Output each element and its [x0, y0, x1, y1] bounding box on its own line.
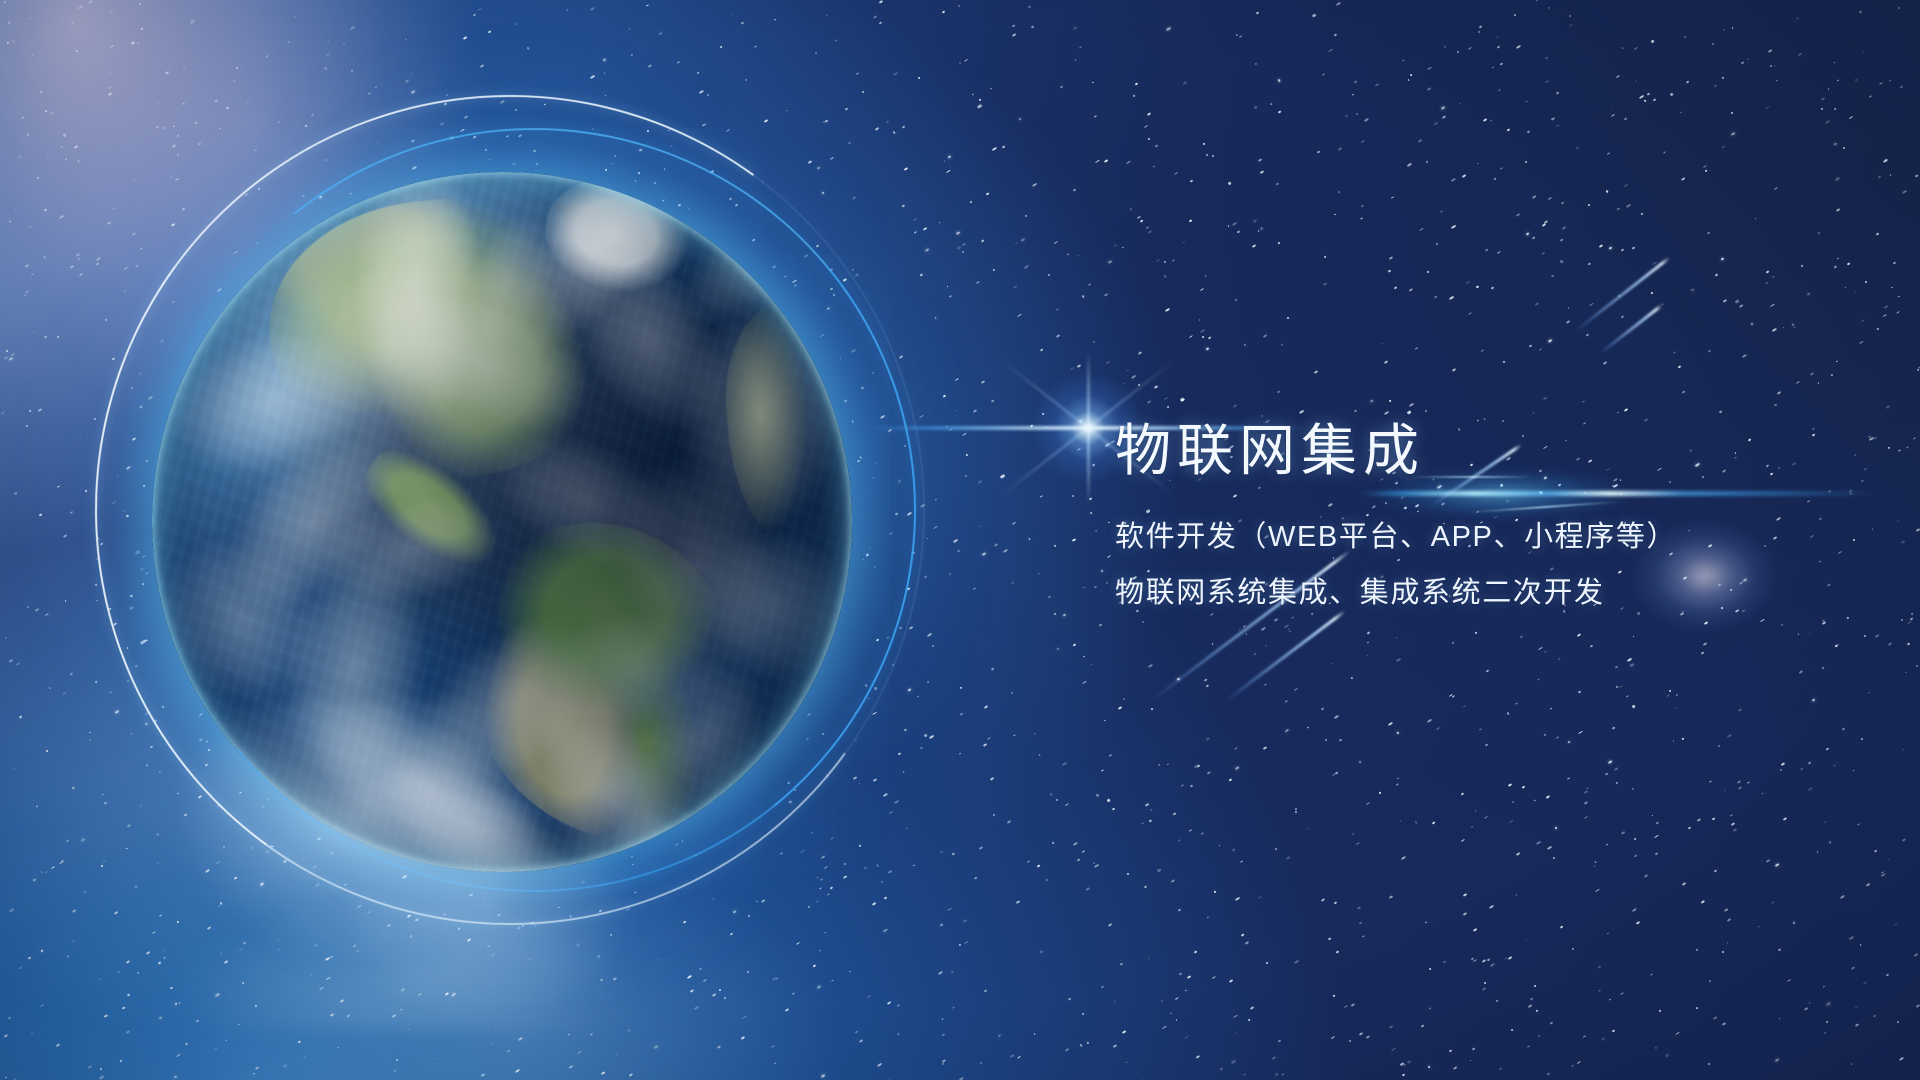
star	[177, 153, 180, 156]
star	[1526, 939, 1528, 941]
star	[1178, 908, 1182, 912]
star	[1823, 821, 1827, 824]
star	[978, 526, 980, 528]
star	[1585, 334, 1589, 338]
star	[1723, 789, 1725, 791]
star	[1174, 172, 1178, 175]
star	[1901, 540, 1906, 544]
star	[1834, 108, 1837, 110]
star	[1204, 679, 1208, 682]
hero-subtitle-list: 软件开发（WEB平台、APP、小程序等） 物联网系统集成、集成系统二次开发	[1115, 510, 1875, 621]
star	[1201, 832, 1204, 835]
star	[1533, 412, 1535, 415]
star	[1762, 793, 1764, 795]
star	[1824, 1032, 1826, 1034]
star	[1506, 129, 1509, 132]
star	[941, 10, 945, 13]
star	[1218, 845, 1220, 847]
star	[1100, 985, 1103, 988]
star	[9, 908, 14, 913]
star	[27, 606, 29, 608]
star	[1054, 241, 1058, 244]
hero-subtitle-line-2: 物联网系统集成、集成系统二次开发	[1115, 566, 1875, 622]
star	[1854, 1006, 1858, 1009]
star	[726, 129, 730, 132]
star	[1589, 645, 1593, 648]
star	[742, 1016, 746, 1019]
star	[1072, 495, 1075, 498]
star	[1578, 690, 1582, 693]
star	[190, 20, 195, 24]
star	[1081, 295, 1084, 298]
star	[1426, 87, 1430, 90]
star	[764, 119, 768, 123]
star	[978, 480, 982, 483]
star	[104, 319, 106, 321]
star	[1775, 863, 1779, 867]
star	[1206, 684, 1210, 687]
star	[1100, 769, 1103, 772]
star	[1547, 339, 1551, 342]
star	[56, 1043, 61, 1047]
star	[1747, 782, 1751, 785]
star	[1525, 160, 1528, 163]
star	[955, 409, 957, 411]
star	[1440, 210, 1443, 213]
star	[744, 78, 747, 81]
star	[953, 539, 958, 543]
star	[44, 335, 48, 338]
star	[1027, 860, 1031, 863]
star	[368, 93, 371, 95]
star	[1396, 636, 1398, 638]
star	[1593, 865, 1595, 867]
star	[1538, 647, 1543, 651]
star	[1333, 34, 1337, 37]
star	[1808, 761, 1811, 764]
star	[1425, 409, 1428, 412]
star	[173, 125, 175, 127]
star	[962, 433, 967, 437]
star	[1861, 50, 1864, 52]
star	[1140, 219, 1144, 222]
star	[1234, 747, 1238, 750]
star	[477, 7, 481, 10]
star	[25, 264, 29, 267]
star	[1860, 943, 1862, 945]
star	[1626, 204, 1631, 208]
star	[877, 1062, 882, 1066]
star	[146, 763, 149, 766]
star	[1065, 803, 1069, 806]
star	[893, 800, 898, 804]
star	[112, 208, 114, 210]
star	[943, 395, 947, 399]
star	[952, 852, 955, 855]
star	[29, 409, 31, 411]
star	[1039, 754, 1041, 756]
star	[1528, 344, 1532, 347]
star	[1497, 252, 1501, 255]
star	[1614, 767, 1618, 771]
star	[964, 474, 967, 477]
star	[1546, 1072, 1549, 1075]
star	[1816, 851, 1818, 853]
star	[1082, 681, 1087, 684]
star	[1332, 773, 1336, 776]
star	[65, 159, 67, 161]
star	[1396, 783, 1399, 786]
star	[1475, 285, 1478, 288]
star	[1860, 737, 1863, 740]
star	[88, 0, 93, 4]
star	[59, 215, 64, 219]
star	[874, 127, 878, 131]
star	[1144, 803, 1148, 806]
star	[1548, 6, 1551, 9]
star	[1450, 178, 1455, 182]
star	[962, 250, 965, 253]
star	[1229, 778, 1232, 781]
star	[1714, 869, 1717, 872]
star	[1275, 848, 1278, 851]
star	[1868, 692, 1871, 694]
star	[1010, 1054, 1014, 1057]
star	[1536, 841, 1541, 845]
star	[1108, 521, 1110, 523]
star	[1415, 347, 1418, 350]
star	[1876, 328, 1879, 331]
star	[1620, 991, 1624, 994]
star	[1822, 621, 1826, 625]
star	[1351, 1003, 1356, 1007]
star	[176, 1054, 181, 1058]
star	[756, 900, 758, 902]
star	[1194, 764, 1199, 769]
star	[76, 49, 79, 52]
star	[1333, 995, 1335, 997]
star	[126, 961, 130, 965]
star	[1440, 106, 1444, 110]
star	[1082, 587, 1085, 590]
star	[95, 583, 97, 585]
star	[1016, 900, 1021, 904]
star	[81, 838, 85, 842]
star	[1129, 207, 1132, 210]
star	[1179, 397, 1184, 401]
star	[1879, 82, 1883, 85]
star	[1276, 390, 1279, 393]
star	[1073, 188, 1077, 192]
star	[1277, 241, 1280, 244]
star	[1167, 764, 1169, 766]
star	[1837, 79, 1839, 81]
star	[1608, 760, 1613, 764]
star	[1183, 241, 1185, 243]
star	[1536, 1009, 1538, 1012]
star	[1067, 254, 1069, 256]
star	[1199, 319, 1201, 321]
star	[1783, 817, 1787, 821]
star	[887, 1001, 891, 1004]
star	[1150, 708, 1153, 711]
star	[883, 897, 887, 900]
star	[1562, 226, 1566, 230]
star	[1356, 842, 1360, 845]
star	[1900, 618, 1902, 620]
star	[1287, 316, 1290, 319]
star	[1520, 636, 1523, 639]
star	[1513, 13, 1516, 16]
star	[1249, 1006, 1253, 1010]
star	[1582, 400, 1585, 403]
star	[1691, 288, 1695, 291]
star	[1508, 956, 1512, 959]
star	[568, 1065, 572, 1069]
star	[126, 847, 128, 849]
star	[1158, 764, 1160, 766]
star	[1429, 967, 1432, 970]
star	[1800, 767, 1804, 770]
star	[908, 689, 911, 692]
star	[1397, 777, 1399, 779]
star	[1391, 1048, 1395, 1051]
star	[1126, 161, 1131, 165]
star	[1817, 382, 1819, 385]
star	[1475, 810, 1477, 812]
star	[1869, 95, 1872, 98]
star	[1030, 25, 1033, 28]
star	[1389, 400, 1391, 402]
star	[1366, 802, 1370, 805]
star	[88, 1065, 92, 1069]
star	[821, 1074, 825, 1077]
star	[182, 102, 186, 105]
star	[1478, 25, 1481, 28]
star	[1842, 146, 1845, 149]
star	[723, 997, 726, 1000]
star	[1427, 719, 1432, 723]
star	[76, 254, 80, 258]
star	[1154, 385, 1158, 389]
star	[1898, 449, 1901, 452]
star	[944, 160, 946, 163]
star	[952, 1006, 955, 1009]
star	[1730, 814, 1733, 817]
star	[1544, 650, 1548, 653]
star	[1360, 205, 1363, 208]
star	[899, 355, 903, 359]
star	[1408, 288, 1412, 292]
star	[1526, 130, 1529, 133]
star	[78, 160, 80, 162]
star	[855, 273, 860, 277]
star	[1082, 1013, 1084, 1015]
star	[989, 777, 993, 781]
star	[1547, 846, 1552, 850]
star	[1910, 617, 1913, 620]
star	[1243, 1073, 1246, 1075]
star	[816, 900, 819, 903]
star	[1595, 889, 1599, 892]
star	[771, 1045, 775, 1048]
star	[1375, 83, 1379, 87]
star	[949, 295, 952, 297]
star	[820, 878, 823, 881]
star	[819, 950, 822, 952]
star	[1096, 793, 1100, 796]
star	[1616, 686, 1618, 688]
star	[100, 865, 103, 868]
star	[1293, 960, 1298, 964]
star	[1809, 372, 1813, 376]
star	[31, 1032, 34, 1034]
star	[139, 3, 142, 6]
star	[1361, 140, 1365, 143]
star	[1534, 799, 1536, 801]
star	[902, 204, 905, 207]
star	[1884, 159, 1886, 162]
star	[1427, 271, 1430, 274]
star	[79, 437, 81, 439]
star	[872, 712, 877, 715]
star	[979, 846, 983, 850]
star	[1106, 361, 1110, 364]
star	[1493, 177, 1495, 180]
star	[965, 454, 968, 457]
star	[615, 1053, 619, 1056]
star	[959, 752, 962, 754]
star	[1836, 208, 1840, 211]
star	[85, 490, 87, 492]
star	[1384, 360, 1389, 364]
star	[1211, 155, 1214, 158]
star	[1655, 852, 1658, 855]
star	[1236, 34, 1239, 37]
star	[1307, 726, 1310, 728]
star	[1881, 873, 1886, 877]
star	[876, 864, 878, 867]
star	[1588, 204, 1591, 207]
star	[653, 1045, 657, 1049]
star	[1325, 739, 1327, 741]
star	[8, 221, 11, 223]
star	[1714, 273, 1718, 276]
star	[95, 680, 98, 682]
star	[73, 146, 77, 149]
star	[1746, 59, 1748, 61]
star	[1861, 319, 1865, 322]
star	[1195, 1055, 1199, 1059]
star	[978, 99, 980, 101]
star	[1509, 819, 1514, 822]
star	[1170, 1013, 1172, 1015]
star	[1408, 79, 1410, 81]
star	[1840, 895, 1845, 899]
star	[590, 7, 595, 11]
star	[898, 752, 901, 755]
star	[1452, 695, 1455, 697]
star	[1196, 765, 1199, 768]
star	[141, 223, 143, 225]
star	[716, 1045, 721, 1049]
star	[491, 1043, 493, 1045]
star	[1070, 367, 1074, 370]
star	[1133, 94, 1135, 96]
star	[1847, 262, 1850, 265]
star	[4, 637, 7, 640]
star	[1684, 36, 1687, 39]
star	[1578, 731, 1583, 734]
star	[867, 995, 871, 998]
star	[1915, 528, 1920, 532]
star	[808, 160, 813, 164]
star	[57, 336, 59, 338]
star	[1507, 783, 1512, 787]
star	[127, 994, 131, 997]
star	[960, 687, 962, 688]
star	[1001, 146, 1004, 149]
star	[1500, 168, 1503, 170]
star	[873, 15, 878, 19]
star	[982, 552, 987, 556]
star	[1206, 771, 1210, 775]
star	[326, 53, 330, 57]
star	[981, 380, 986, 384]
star	[1331, 663, 1334, 665]
star	[1737, 780, 1741, 784]
star	[629, 28, 631, 31]
star	[96, 599, 98, 601]
star	[1104, 159, 1108, 162]
star	[853, 776, 858, 780]
star	[1328, 48, 1333, 51]
star	[1481, 349, 1485, 352]
star	[1496, 1000, 1498, 1002]
star	[1582, 1035, 1585, 1038]
star	[1686, 80, 1689, 83]
star	[1258, 158, 1263, 162]
star	[481, 1073, 486, 1077]
star	[1471, 826, 1474, 829]
star	[1181, 784, 1184, 787]
star	[174, 1075, 178, 1078]
star	[830, 157, 834, 160]
star	[1359, 921, 1363, 924]
star	[1356, 113, 1359, 116]
star	[1821, 108, 1823, 111]
star	[1362, 935, 1365, 937]
star	[1614, 665, 1618, 669]
star	[920, 746, 923, 749]
star	[1720, 257, 1724, 260]
star	[1157, 868, 1162, 872]
star	[1281, 343, 1284, 346]
star	[1232, 848, 1235, 851]
star	[1359, 1033, 1363, 1036]
star	[1200, 288, 1204, 291]
star	[375, 86, 377, 88]
star	[1336, 950, 1339, 953]
star	[1105, 581, 1107, 584]
star	[350, 26, 355, 30]
star	[445, 93, 448, 96]
star	[1236, 1032, 1238, 1034]
star	[50, 112, 54, 115]
star	[1912, 437, 1915, 439]
star	[1542, 252, 1545, 254]
star	[112, 357, 115, 360]
